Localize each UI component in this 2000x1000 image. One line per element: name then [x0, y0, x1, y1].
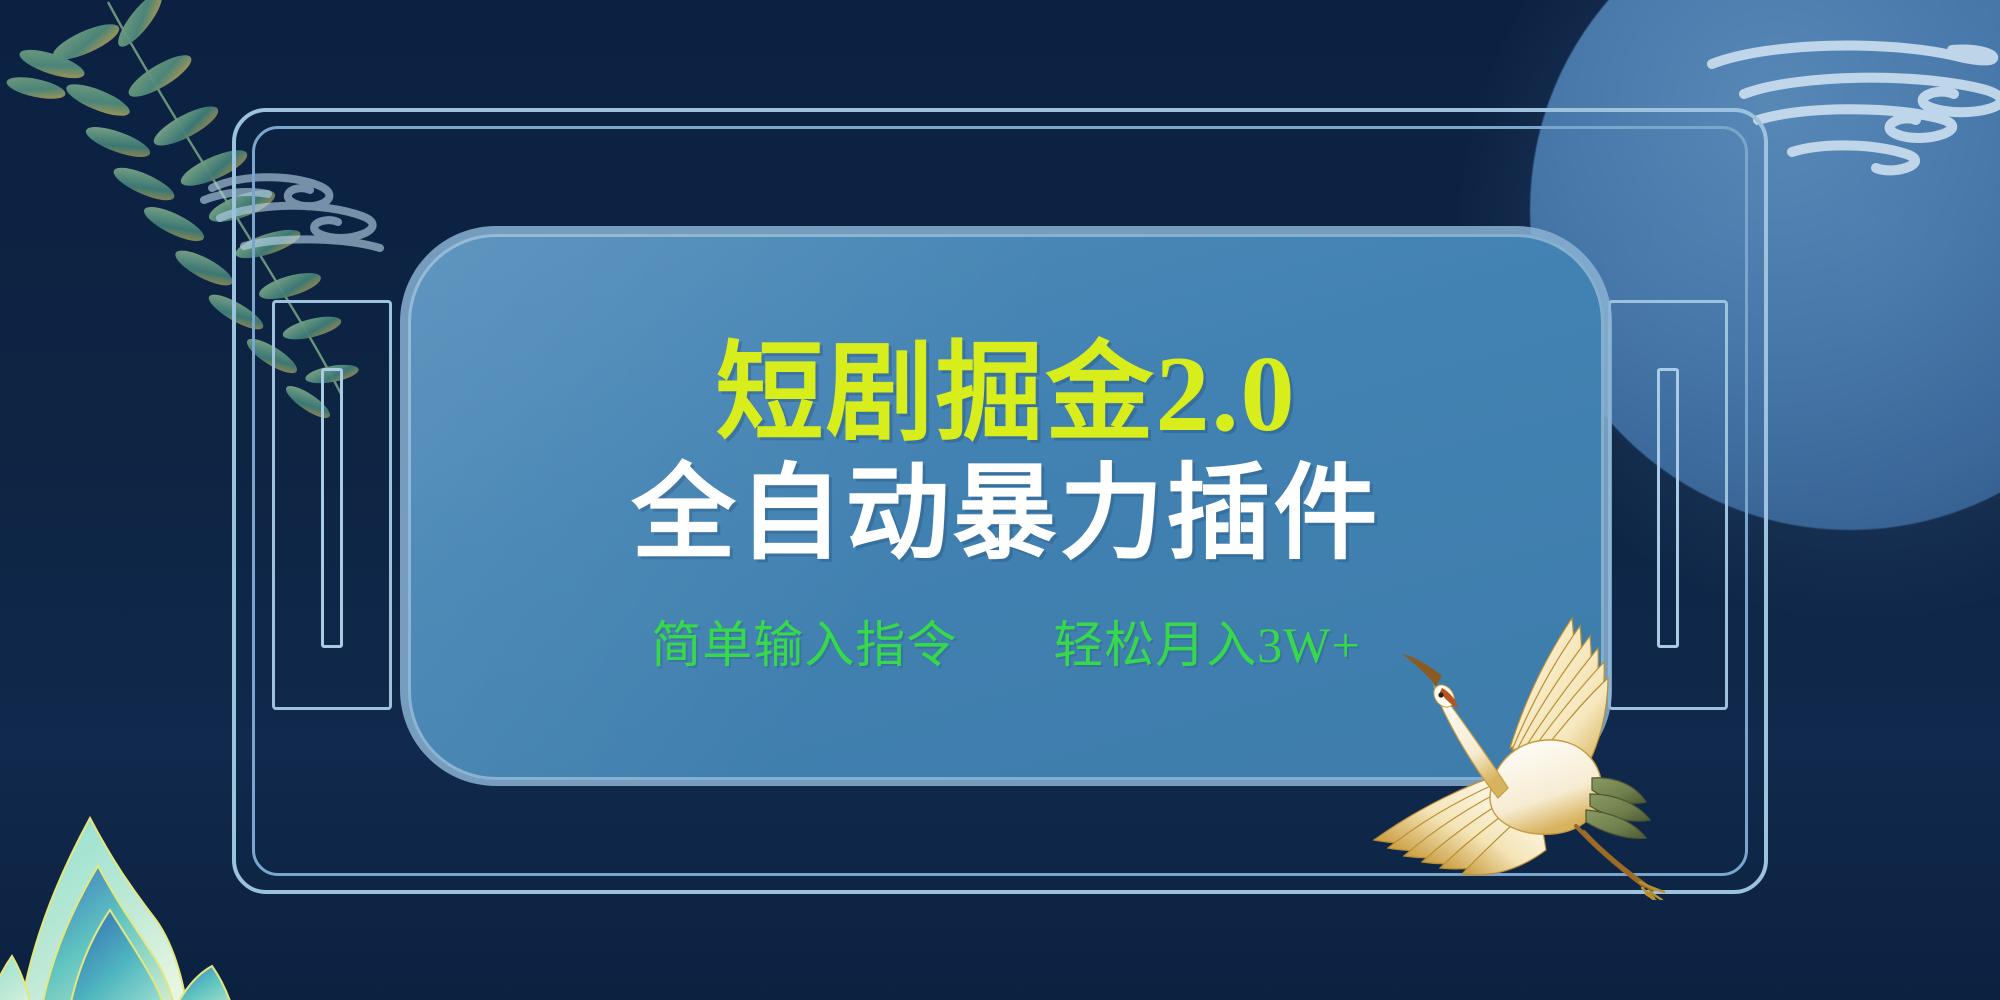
page-subtitle: 全自动暴力插件	[631, 459, 1380, 571]
promo-banner: 短剧掘金2.0 全自动暴力插件 简单输入指令 轻松月入3W+	[0, 0, 2000, 1000]
tagline-row: 简单输入指令 轻松月入3W+	[651, 605, 1360, 677]
tagline-right: 轻松月入3W+	[1053, 605, 1360, 677]
headline-block: 短剧掘金2.0 全自动暴力插件 简单输入指令 轻松月入3W+	[408, 234, 1604, 780]
tagline-left: 简单输入指令	[651, 605, 957, 677]
page-title: 短剧掘金2.0	[715, 337, 1296, 454]
ornament-slot-left	[321, 368, 343, 648]
ornament-slot-right	[1657, 368, 1679, 648]
